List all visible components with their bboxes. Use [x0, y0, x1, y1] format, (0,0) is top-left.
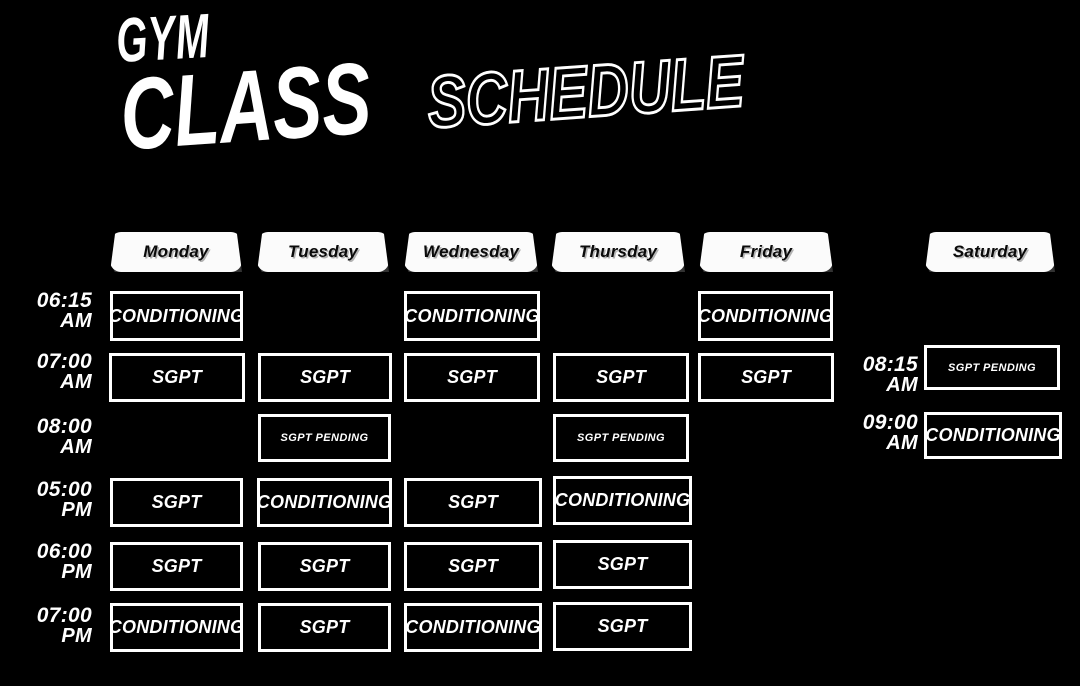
day-header-tuesday[interactable]: Tuesday	[257, 232, 389, 272]
title-schedule: SCHEDULE	[424, 28, 747, 156]
day-header-label: Wednesday	[423, 242, 519, 262]
class-cell-label: SGPT	[152, 492, 202, 513]
class-cell-tuesday-07-00-am[interactable]: SGPT	[258, 353, 392, 402]
time-label-05-00-pm: 05:00PM	[37, 479, 92, 521]
time-meridiem: AM	[37, 311, 92, 332]
time-meridiem: AM	[37, 437, 92, 458]
time-meridiem: PM	[37, 626, 92, 647]
time-meridiem: AM	[37, 372, 92, 393]
class-cell-label: SGPT	[300, 556, 350, 577]
class-cell-label: SGPT	[152, 367, 202, 388]
class-cell-label: CONDITIONING	[110, 306, 243, 327]
day-header-label: Saturday	[953, 242, 1027, 262]
class-cell-label: SGPT	[448, 556, 498, 577]
time-hour: 09:00	[863, 412, 918, 433]
class-cell-friday-07-00-am[interactable]: SGPT	[698, 353, 834, 402]
day-header-label: Thursday	[579, 242, 657, 262]
class-cell-friday-06-15-am[interactable]: CONDITIONING	[698, 291, 833, 341]
day-header-label: Monday	[143, 242, 208, 262]
class-cell-wednesday-06-00-pm[interactable]: SGPT	[404, 542, 542, 591]
class-cell-wednesday-06-15-am[interactable]: CONDITIONING	[404, 291, 540, 341]
time-label-06-15-am: 06:15AM	[37, 290, 92, 332]
day-header-saturday[interactable]: Saturday	[925, 232, 1055, 272]
class-cell-label: CONDITIONING	[404, 306, 539, 327]
class-cell-wednesday-07-00-am[interactable]: SGPT	[404, 353, 540, 402]
class-cell-label: CONDITIONING	[555, 490, 690, 511]
title-block: GYM CLASS SCHEDULE	[0, 0, 1080, 210]
day-header-thursday[interactable]: Thursday	[551, 232, 685, 272]
class-cell-monday-06-15-am[interactable]: CONDITIONING	[110, 291, 243, 341]
class-cell-label: SGPT	[300, 367, 350, 388]
title-class: CLASS	[117, 44, 375, 170]
class-cell-tuesday-08-00-am[interactable]: SGPT PENDING	[258, 414, 391, 462]
time-hour: 05:00	[37, 479, 92, 500]
day-header-label: Tuesday	[288, 242, 358, 262]
time-label-09-00-am: 09:00AM	[863, 412, 918, 454]
class-cell-saturday-08-15-am[interactable]: SGPT PENDING	[924, 345, 1060, 390]
class-cell-label: SGPT PENDING	[577, 432, 665, 444]
time-label-07-00-pm: 07:00PM	[37, 605, 92, 647]
time-hour: 08:15	[863, 354, 918, 375]
time-meridiem: PM	[37, 500, 92, 521]
class-cell-saturday-09-00-am[interactable]: CONDITIONING	[924, 412, 1062, 459]
class-cell-label: SGPT	[447, 367, 497, 388]
class-cell-monday-05-00-pm[interactable]: SGPT	[110, 478, 243, 527]
day-header-wednesday[interactable]: Wednesday	[404, 232, 538, 272]
class-cell-label: CONDITIONING	[698, 306, 833, 327]
class-cell-thursday-07-00-pm[interactable]: SGPT	[553, 602, 692, 651]
class-cell-label: SGPT PENDING	[281, 432, 369, 444]
class-cell-label: SGPT	[598, 554, 648, 575]
class-cell-label: CONDITIONING	[257, 492, 392, 513]
class-cell-monday-07-00-am[interactable]: SGPT	[109, 353, 245, 402]
class-cell-tuesday-06-00-pm[interactable]: SGPT	[258, 542, 391, 591]
time-meridiem: AM	[863, 375, 918, 396]
time-meridiem: PM	[37, 562, 92, 583]
class-cell-label: SGPT	[448, 492, 498, 513]
class-cell-monday-07-00-pm[interactable]: CONDITIONING	[110, 603, 243, 652]
class-cell-label: SGPT	[741, 367, 791, 388]
class-cell-wednesday-05-00-pm[interactable]: SGPT	[404, 478, 542, 527]
class-cell-label: SGPT	[300, 617, 350, 638]
day-header-friday[interactable]: Friday	[699, 232, 833, 272]
class-cell-label: CONDITIONING	[405, 617, 540, 638]
class-cell-tuesday-07-00-pm[interactable]: SGPT	[258, 603, 391, 652]
day-header-label: Friday	[740, 242, 792, 262]
time-hour: 06:00	[37, 541, 92, 562]
class-cell-thursday-07-00-am[interactable]: SGPT	[553, 353, 689, 402]
time-hour: 06:15	[37, 290, 92, 311]
class-cell-label: SGPT	[598, 616, 648, 637]
time-label-06-00-pm: 06:00PM	[37, 541, 92, 583]
time-hour: 07:00	[37, 351, 92, 372]
time-hour: 07:00	[37, 605, 92, 626]
day-header-monday[interactable]: Monday	[110, 232, 242, 272]
class-cell-label: SGPT	[152, 556, 202, 577]
time-meridiem: AM	[863, 433, 918, 454]
time-hour: 08:00	[37, 416, 92, 437]
class-cell-label: CONDITIONING	[110, 617, 243, 638]
class-cell-tuesday-05-00-pm[interactable]: CONDITIONING	[257, 478, 392, 527]
class-cell-label: SGPT PENDING	[948, 362, 1036, 374]
class-cell-thursday-06-00-pm[interactable]: SGPT	[553, 540, 692, 589]
class-cell-wednesday-07-00-pm[interactable]: CONDITIONING	[404, 603, 542, 652]
time-label-08-15-am: 08:15AM	[863, 354, 918, 396]
time-label-07-00-am: 07:00AM	[37, 351, 92, 393]
class-cell-label: CONDITIONING	[925, 425, 1060, 446]
time-label-08-00-am: 08:00AM	[37, 416, 92, 458]
class-cell-monday-06-00-pm[interactable]: SGPT	[110, 542, 243, 591]
title-main: CLASS SCHEDULE	[118, 32, 783, 177]
class-cell-thursday-05-00-pm[interactable]: CONDITIONING	[553, 476, 692, 525]
class-cell-label: SGPT	[596, 367, 646, 388]
class-cell-thursday-08-00-am[interactable]: SGPT PENDING	[553, 414, 689, 462]
